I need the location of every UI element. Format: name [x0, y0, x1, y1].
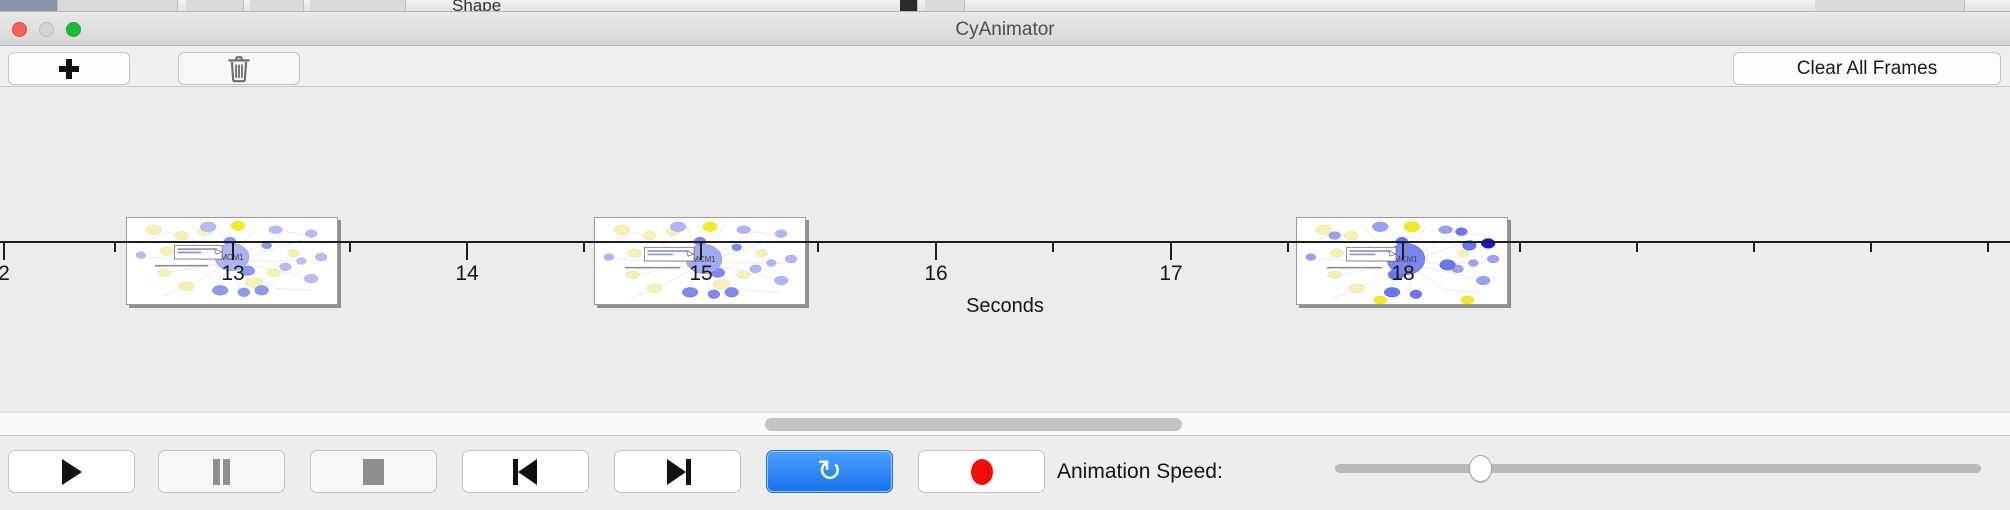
animation-speed-slider[interactable]	[1335, 464, 1981, 473]
window-title: CyAnimator	[0, 19, 2010, 41]
add-frame-button[interactable]	[8, 52, 130, 85]
clear-all-frames-button[interactable]: Clear All Frames	[1733, 52, 2001, 85]
timeline-tick-label: 14	[455, 262, 478, 286]
timeline-tick-label: 17	[1159, 262, 1182, 286]
timeline-tick-label: 15	[689, 262, 712, 286]
background-chip	[0, 0, 58, 12]
stop-button[interactable]	[310, 450, 437, 493]
prev-frame-button[interactable]	[462, 450, 589, 493]
timeline-axis	[0, 241, 2010, 243]
background-window-label: Shape	[452, 0, 501, 12]
clear-all-frames-label: Clear All Frames	[1797, 58, 1937, 80]
animation-speed-slider-thumb[interactable]	[1469, 455, 1492, 482]
trash-icon	[226, 55, 252, 83]
timeline-tick-label: 2	[0, 262, 10, 286]
pause-icon	[211, 459, 232, 485]
timeline-panel[interactable]: MCM1	[0, 87, 2010, 412]
timeline-tick	[3, 243, 5, 260]
background-chip	[58, 0, 178, 12]
background-chip	[900, 0, 918, 12]
background-chip	[925, 0, 965, 12]
skip-forward-icon	[665, 459, 691, 485]
timeline-tick	[1519, 243, 1521, 252]
network-preview: MCM1	[127, 218, 337, 304]
timeline-tick	[349, 243, 351, 252]
background-chip	[1815, 0, 1965, 12]
timeline-tick	[1636, 243, 1638, 252]
timeline-tick	[1753, 243, 1755, 252]
animation-speed-label: Animation Speed:	[1057, 460, 1223, 484]
play-icon	[62, 459, 82, 485]
timeline-tick	[1870, 243, 1872, 252]
play-button[interactable]	[8, 450, 135, 493]
delete-frame-button[interactable]	[178, 52, 300, 85]
timeline-tick-label: 16	[924, 262, 947, 286]
plus-icon	[59, 59, 79, 79]
background-chip	[250, 0, 304, 12]
loop-button[interactable]: ↻	[766, 450, 893, 493]
background-window-strip: Shape	[0, 0, 2010, 12]
title-bar: CyAnimator	[0, 12, 2010, 46]
timeline-tick	[935, 243, 937, 260]
timeline-tick	[817, 243, 819, 252]
timeline-tick	[1987, 243, 1989, 252]
timeline-tick-label: 13	[221, 262, 244, 286]
scrollbar-thumb[interactable]	[765, 418, 1182, 431]
timeline-tick-label: 18	[1391, 262, 1414, 286]
loop-icon: ↻	[817, 457, 842, 487]
timeline-tick	[1402, 243, 1404, 260]
network-preview: MCM1	[595, 218, 805, 304]
timeline-tick	[583, 243, 585, 252]
toolbar: Clear All Frames	[0, 46, 2010, 87]
background-chip	[186, 0, 244, 12]
timeline-tick	[1170, 243, 1172, 260]
keyframe-thumbnail[interactable]: MCM1	[126, 217, 338, 305]
cyanimator-window: Shape CyAnimator Clear All Frames	[0, 0, 2010, 510]
background-chip	[310, 0, 406, 12]
skip-back-icon	[513, 459, 539, 485]
timeline-tick	[1052, 243, 1054, 252]
network-preview: MCM1	[1297, 218, 1507, 304]
keyframe-thumbnail[interactable]: MCM1	[1296, 217, 1508, 305]
record-icon	[971, 459, 993, 485]
timeline-scrollbar[interactable]	[0, 412, 2010, 436]
playback-control-bar: ↻ Animation Speed:	[0, 436, 2010, 510]
axis-title: Seconds	[0, 295, 2010, 318]
timeline-tick	[114, 243, 116, 252]
record-button[interactable]	[918, 450, 1045, 493]
keyframe-thumbnail[interactable]: MCM1	[594, 217, 806, 305]
stop-icon	[363, 459, 384, 485]
timeline-tick	[232, 243, 234, 260]
timeline-tick	[700, 243, 702, 260]
next-frame-button[interactable]	[614, 450, 741, 493]
pause-button[interactable]	[158, 450, 285, 493]
timeline-tick	[1287, 243, 1289, 252]
timeline-tick	[466, 243, 468, 260]
